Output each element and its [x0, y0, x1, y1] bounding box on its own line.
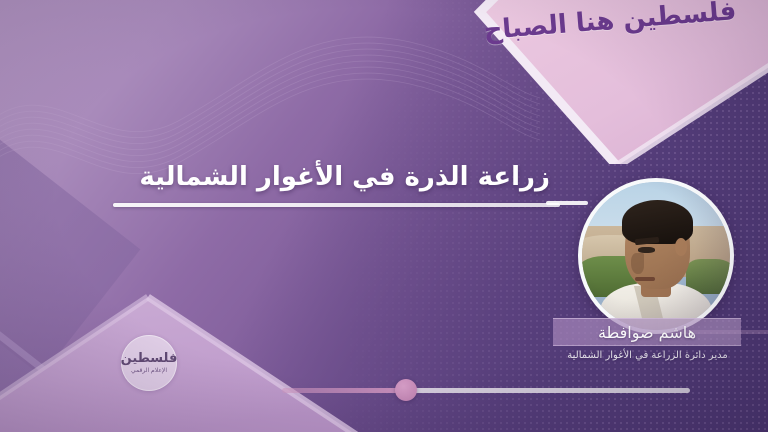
title-underline	[113, 203, 560, 207]
page-title: زراعة الذرة في الأغوار الشمالية	[139, 162, 550, 192]
program-banner: فلسطين هنا الصباح	[420, 0, 768, 164]
progress-bar-fill[interactable]	[282, 388, 406, 393]
avatar-vignette	[582, 182, 730, 330]
broadcast-frame: فلسطين هنا الصباح زراعة الذرة في الأغوار…	[0, 0, 768, 432]
watermark-main-text: فلسطين	[121, 352, 178, 366]
guest-name: هاشم صوافطة	[598, 323, 696, 342]
channel-watermark-logo: فلسطين الإعلام الرقمي	[121, 335, 177, 391]
corner-triangle-decoration	[0, 290, 364, 432]
guest-role: مدير دائرة الزراعة في الأغوار الشمالية	[540, 350, 755, 361]
progress-bar-handle[interactable]	[395, 379, 417, 401]
guest-avatar	[578, 178, 734, 334]
watermark-sub-text: الإعلام الرقمي	[131, 367, 167, 374]
progress-bar-track[interactable]	[414, 388, 690, 393]
guest-name-plate: هاشم صوافطة	[553, 318, 741, 346]
